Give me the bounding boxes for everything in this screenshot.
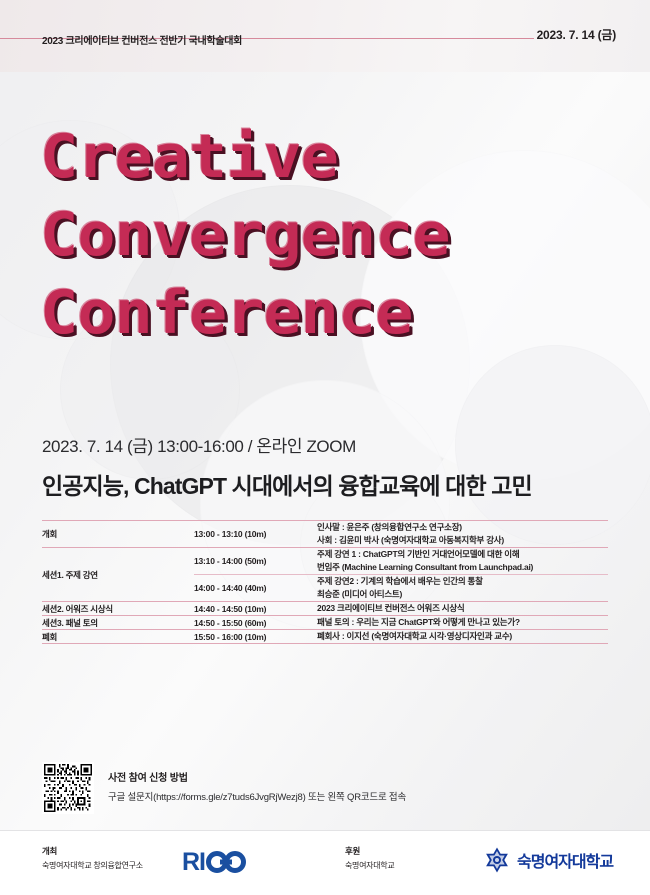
event-theme: 인공지능, ChatGPT 시대에서의 융합교육에 대한 고민 [42, 467, 622, 501]
registration-description[interactable]: 구글 설문지(https://forms.gle/z7tuds6JvgRjWez… [108, 789, 406, 803]
table-row: 세션2. 어워즈 시상식 14:40 - 14:50 (10m) 2023 크리… [42, 602, 608, 616]
event-series-label: 2023 크리에이티브 컨버전스 전반기 국내학술대회 [42, 32, 242, 47]
sookmyung-logo: 숙명여자대학교 [484, 847, 613, 873]
sponsor-label: 후원 [345, 845, 394, 857]
session-desc: 2023 크리에이티브 컨버전스 어워즈 시상식 [317, 602, 608, 615]
session-time: 13:00 - 13:10 (10m) [194, 529, 266, 539]
session-name: 세션3. 패널 토의 [42, 618, 98, 628]
session-desc-secondary: 최승준 (미디어 아티스트) [317, 588, 608, 601]
session-desc: 주제 강연2 : 기계의 학습에서 배우는 인간의 통찰 [317, 575, 608, 588]
table-bottom-divider [42, 644, 608, 645]
qr-code-icon[interactable] [42, 762, 94, 814]
host-block: 개최 숙명여자대학교 창의융합연구소 [42, 845, 143, 871]
registration-text: 사전 참여 신청 방법 구글 설문지(https://forms.gle/z7t… [108, 762, 406, 803]
page-title: Creative Convergence Conference [40, 118, 620, 352]
infinity-icon [206, 849, 246, 875]
table-row: 개회 13:00 - 13:10 (10m) 인사말 : 윤은주 (창의융합연구… [42, 521, 608, 548]
conference-poster: 2023 크리에이티브 컨버전스 전반기 국내학술대회 2023. 7. 14 … [0, 0, 650, 895]
table-row: 세션1. 주제 강연 13:10 - 14:00 (50m) 주제 강연 1 :… [42, 548, 608, 575]
session-desc-secondary: 사회 : 김윤미 박사 (숙명여자대학교 아동복지학부 강사) [317, 534, 608, 547]
host-name: 숙명여자대학교 창의융합연구소 [42, 861, 143, 870]
title-line-conference: Conference [40, 274, 650, 352]
rico-logo: RI [182, 849, 246, 875]
star-emblem-icon [484, 847, 510, 873]
table-row: 세션3. 패널 토의 14:50 - 15:50 (60m) 패널 토의 : 우… [42, 616, 608, 630]
registration-block: 사전 참여 신청 방법 구글 설문지(https://forms.gle/z7t… [42, 762, 406, 814]
rico-logo-text: RI [182, 850, 205, 875]
schedule-table: 개회 13:00 - 13:10 (10m) 인사말 : 윤은주 (창의융합연구… [42, 520, 608, 644]
session-name: 개회 [42, 529, 57, 539]
session-time: 15:50 - 16:00 (10m) [194, 632, 266, 642]
session-desc-secondary: 번임주 (Machine Learning Consultant from La… [317, 561, 608, 574]
sponsor-name: 숙명여자대학교 [345, 861, 394, 870]
session-time: 14:00 - 14:40 (40m) [194, 583, 266, 593]
university-logo-text: 숙명여자대학교 [517, 848, 613, 872]
host-label: 개최 [42, 845, 143, 857]
session-name: 폐회 [42, 632, 57, 642]
session-time: 14:50 - 15:50 (60m) [194, 618, 266, 628]
session-desc: 인사말 : 윤은주 (창의융합연구소 연구소장) [317, 521, 608, 534]
session-desc: 폐회사 : 이지선 (숙명여자대학교 시각·영상디자인과 교수) [317, 630, 608, 643]
subtitle-block: 2023. 7. 14 (금) 13:00-16:00 / 온라인 ZOOM 인… [42, 432, 622, 501]
event-datetime-venue: 2023. 7. 14 (금) 13:00-16:00 / 온라인 ZOOM [42, 432, 622, 457]
title-line-convergence: Convergence [40, 196, 650, 274]
table-row: 폐회 15:50 - 16:00 (10m) 폐회사 : 이지선 (숙명여자대학… [42, 630, 608, 644]
session-desc: 주제 강연 1 : ChatGPT의 기반인 거대언어모델에 대한 이해 [317, 548, 608, 561]
registration-title: 사전 참여 신청 방법 [108, 769, 406, 784]
session-desc: 패널 토의 : 우리는 지금 ChatGPT와 어떻게 만나고 있는가? [317, 616, 608, 629]
session-name: 세션2. 어워즈 시상식 [42, 604, 113, 614]
session-time: 14:40 - 14:50 (10m) [194, 604, 266, 614]
session-name: 세션1. 주제 강연 [42, 570, 98, 580]
poster-footer: 개최 숙명여자대학교 창의융합연구소 RI 후원 숙명여자대학교 [0, 830, 650, 895]
header-date: 2023. 7. 14 (금) [537, 26, 616, 43]
poster-header: 2023 크리에이티브 컨버전스 전반기 국내학술대회 2023. 7. 14 … [0, 0, 650, 72]
session-time: 13:10 - 14:00 (50m) [194, 556, 266, 566]
sponsor-block: 후원 숙명여자대학교 [345, 845, 394, 871]
title-line-creative: Creative [40, 118, 650, 196]
